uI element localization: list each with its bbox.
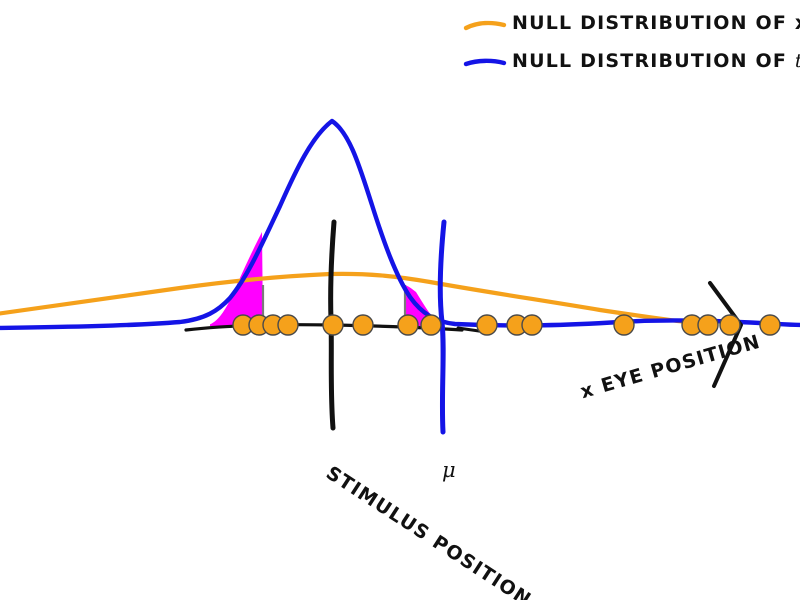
eye-position-dot[interactable] <box>760 315 780 335</box>
legend-symbol-1: t <box>795 50 800 72</box>
legend-symbol-0: x <box>795 12 800 34</box>
legend-item-0[interactable]: NULL DISTRIBUTION OF x <box>512 12 800 34</box>
eye-position-dot[interactable] <box>421 315 441 335</box>
orange-curve-null-dist-x <box>0 274 686 322</box>
legend-item-1[interactable]: NULL DISTRIBUTION OF t <box>512 50 800 72</box>
figure-canvas: NULL DISTRIBUTION OF x NULL DISTRIBUTION… <box>0 0 800 600</box>
mu-label-text: μ <box>442 458 456 482</box>
legend-label-1: NULL DISTRIBUTION OF <box>512 50 795 72</box>
legend-swatches <box>466 23 504 64</box>
eye-position-dot[interactable] <box>398 315 418 335</box>
legend-label-0: NULL DISTRIBUTION OF <box>512 12 795 34</box>
eye-position-dot[interactable] <box>278 315 298 335</box>
orange-line-swatch <box>466 23 504 28</box>
eye-position-dot[interactable] <box>698 315 718 335</box>
eye-position-dot[interactable] <box>720 315 740 335</box>
eye-position-dot[interactable] <box>477 315 497 335</box>
blue-line-swatch <box>466 61 504 64</box>
eye-position-dot[interactable] <box>522 315 542 335</box>
eye-position-dot[interactable] <box>353 315 373 335</box>
eye-position-dot[interactable] <box>614 315 634 335</box>
eye-position-dot[interactable] <box>323 315 343 335</box>
mu-label: μ <box>442 458 456 482</box>
